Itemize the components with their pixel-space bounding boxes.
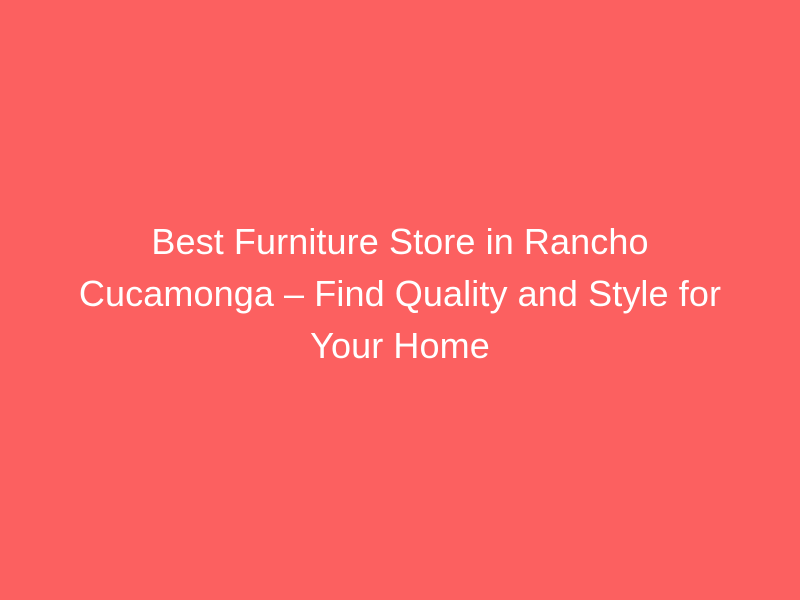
page-title: Best Furniture Store in Rancho Cucamonga…: [50, 216, 750, 372]
headline-block: Best Furniture Store in Rancho Cucamonga…: [50, 216, 750, 372]
share-card: Best Furniture Store in Rancho Cucamonga…: [0, 0, 800, 600]
